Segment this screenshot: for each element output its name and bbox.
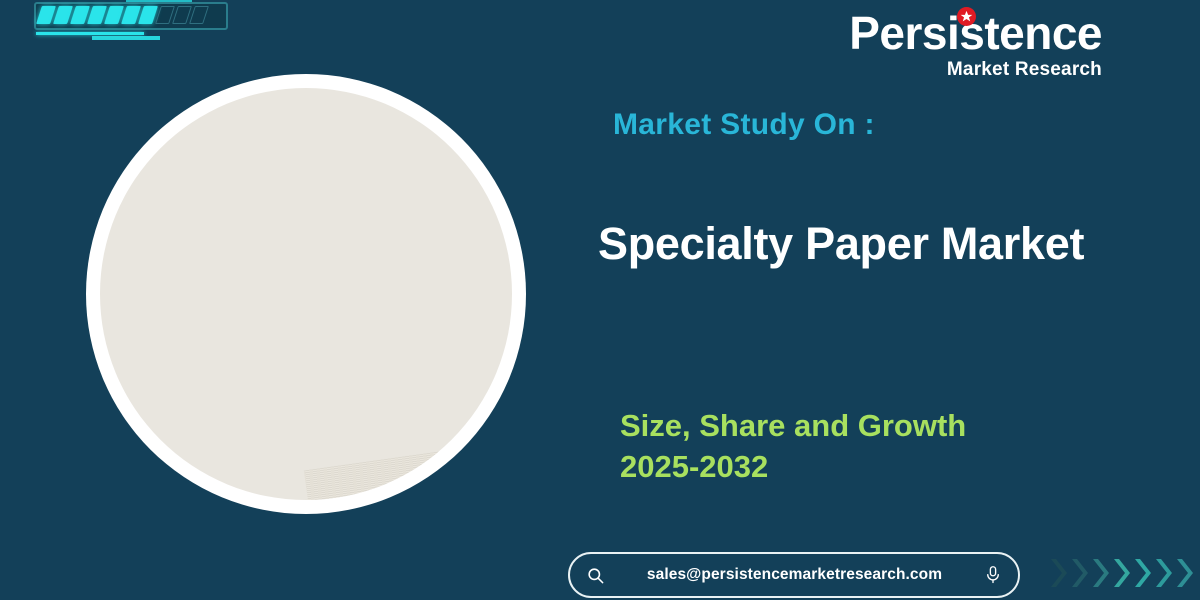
chevron-right-decoration (1048, 556, 1194, 590)
chevron-right-icon (1174, 556, 1194, 590)
marketing-banner: Persistence Market Research Market (0, 0, 1200, 600)
subtitle-block: Size, Share and Growth 2025-2032 (620, 405, 966, 487)
chevron-right-icon (1132, 556, 1152, 590)
eyebrow-text: Market Study On : (613, 108, 875, 142)
search-bar[interactable]: sales@persistencemarketresearch.com (568, 552, 1020, 598)
search-input[interactable]: sales@persistencemarketresearch.com (605, 566, 984, 584)
hud-segment-empty (189, 6, 209, 24)
company-logo: Persistence Market Research (849, 10, 1102, 79)
paper-sheet (304, 420, 512, 500)
chevron-right-icon (1048, 556, 1068, 590)
subtitle-line-2: 2025-2032 (620, 446, 966, 487)
chevron-right-icon (1111, 556, 1131, 590)
hud-underline-secondary (92, 36, 160, 40)
microphone-icon[interactable] (984, 565, 1002, 585)
search-icon[interactable] (586, 566, 605, 585)
page-title: Specialty Paper Market (598, 218, 1084, 270)
hud-underline (36, 32, 144, 35)
logo-secondary-text: Market Research (849, 60, 1102, 79)
fanned-paper-sheets-image (100, 88, 512, 500)
chevron-right-icon (1153, 556, 1173, 590)
logo-wordmark: Persistence (849, 10, 1102, 56)
chevron-right-icon (1069, 556, 1089, 590)
hud-segment-track (39, 6, 221, 24)
hud-progress-widget (34, 2, 228, 32)
subtitle-line-1: Size, Share and Growth (620, 405, 966, 446)
hero-image-circle (86, 74, 526, 514)
chevron-right-icon (1090, 556, 1110, 590)
